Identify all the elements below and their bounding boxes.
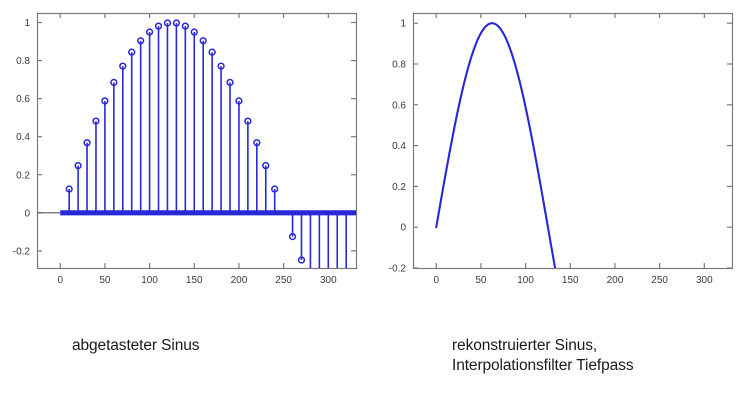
y-tick-label: 1 [24, 18, 30, 29]
reconstructed-sine-curve [436, 23, 556, 273]
plot-frame [414, 14, 733, 269]
x-tick-label: 50 [99, 275, 111, 286]
x-tick-label: 100 [517, 275, 534, 286]
x-tick-label: 200 [607, 275, 624, 286]
y-tick-label: 0 [24, 208, 30, 219]
sampled-sine-plot: 050100150200250300-0.200.20.40.60.81 [0, 0, 376, 330]
y-tick-label: 0.6 [392, 100, 406, 111]
x-tick-label: 250 [651, 275, 668, 286]
reconstructed-sine-series [436, 23, 556, 273]
x-tick-label: 250 [275, 275, 292, 286]
caption-sampled-sine: abgetasteter Sinus [72, 336, 199, 356]
x-tick-label: 0 [57, 275, 63, 286]
y-tick-label: 0 [400, 223, 406, 234]
y-tick-label: 0.2 [392, 182, 406, 193]
chart-panel-sampled-sine: 050100150200250300-0.200.20.40.60.81 [0, 0, 376, 330]
x-tick-label: 50 [475, 275, 487, 286]
y-tick-label: 0.2 [16, 170, 30, 181]
y-tick-label: -0.2 [389, 264, 407, 275]
x-tick-label: 300 [696, 275, 713, 286]
y-tick-label: 0.8 [16, 56, 30, 67]
x-tick-label: 150 [562, 275, 579, 286]
y-tick-label: 0.4 [392, 141, 406, 152]
y-tick-label: 0.6 [16, 94, 30, 105]
y-tick-label: 0.4 [16, 132, 30, 143]
x-tick-label: 0 [433, 275, 439, 286]
y-tick-label: -0.2 [13, 246, 31, 257]
reconstructed-sine-plot: 050100150200250300-0.200.20.40.60.81 [376, 0, 752, 330]
chart-panel-reconstructed-sine: 050100150200250300-0.200.20.40.60.81 [376, 0, 752, 330]
caption-reconstructed-sine: rekonstruierter Sinus, Interpolationsfil… [452, 336, 633, 376]
x-tick-label: 300 [320, 275, 337, 286]
y-tick-label: 1 [400, 19, 406, 30]
y-tick-label: 0.8 [392, 60, 406, 71]
figure-root: 050100150200250300-0.200.20.40.60.81 050… [0, 0, 752, 407]
sampled-sine-series [37, 20, 356, 268]
x-tick-label: 150 [186, 275, 203, 286]
x-tick-label: 100 [141, 275, 158, 286]
x-tick-label: 200 [231, 275, 248, 286]
